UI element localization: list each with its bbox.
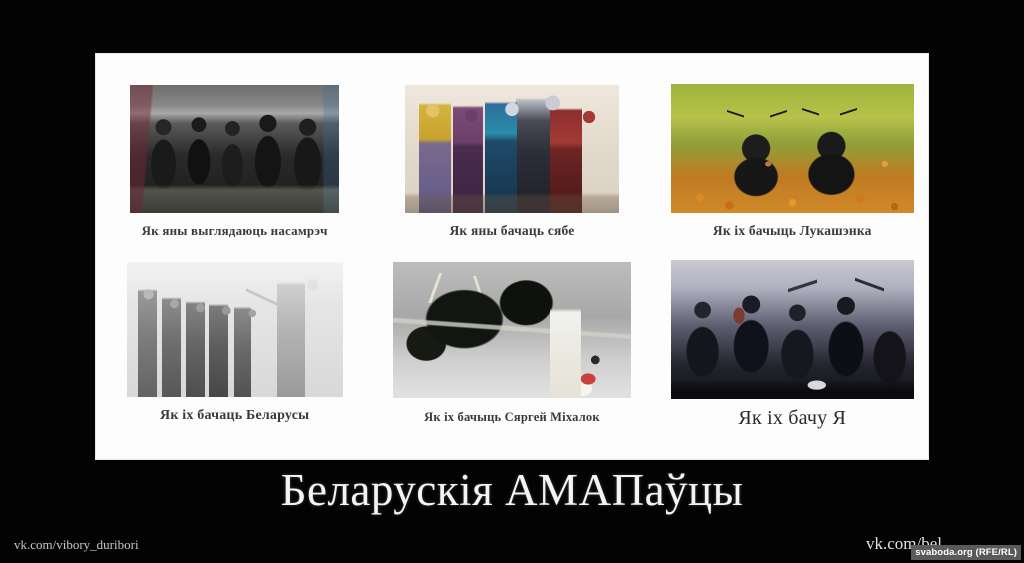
collage-cell-3: Як іх бачыць Лукашэнка: [651, 72, 928, 257]
collage-cell-6: Як іх бачу Я: [651, 254, 928, 449]
doberman-dogs-photo-art: [671, 84, 914, 213]
collage-caption-5: Як іх бачыць Сяргей Міхалок: [424, 410, 600, 425]
meme-image-root: Як яны выглядаюць насамрэч Як яны бачаць…: [0, 0, 1024, 563]
rfe-rl-badge: svaboda.org (RFE/RL): [911, 545, 1021, 560]
collage-row-top: Як яны выглядаюць насамрэч Як яны бачаць…: [96, 72, 928, 257]
collage-caption-3: Як іх бачыць Лукашэнка: [713, 223, 872, 239]
collage-cell-4: Як іх бачаць Беларусы: [96, 254, 373, 449]
riot-squad-dark-photo-art: [671, 260, 914, 399]
collage-cell-1: Як яны выглядаюць насамрэч: [96, 72, 373, 257]
bullfight-photo-art: [393, 262, 631, 398]
riot-police-bw-photo: [130, 85, 339, 213]
collage-caption-2: Як яны бачаць сябе: [449, 223, 574, 239]
riot-police-bw-photo-art: [130, 85, 339, 213]
collage-caption-1: Як яны выглядаюць насамрэч: [142, 223, 328, 239]
collage-caption-4: Як іх бачаць Беларусы: [160, 408, 309, 424]
superhero-figures-photo: [405, 85, 619, 213]
superhero-figures-photo-art: [405, 85, 619, 213]
soldiers-salute-bw-photo: [127, 262, 343, 397]
collage-panel: Як яны выглядаюць насамрэч Як яны бачаць…: [96, 54, 928, 459]
soldiers-salute-bw-photo-art: [127, 262, 343, 397]
doberman-dogs-photo: [671, 84, 914, 213]
bullfight-photo: [393, 262, 631, 398]
watermark-left: vk.com/vibory_duribori: [14, 537, 139, 553]
riot-squad-dark-photo: [671, 260, 914, 399]
collage-cell-5: Як іх бачыць Сяргей Міхалок: [373, 254, 650, 449]
collage-cell-2: Як яны бачаць сябе: [373, 72, 650, 257]
main-title: Беларускія АМАПаўцы: [0, 463, 1024, 517]
collage-row-bottom: Як іх бачаць Беларусы Як іх бачыць Сярге…: [96, 254, 928, 449]
collage-caption-6: Як іх бачу Я: [738, 407, 846, 430]
